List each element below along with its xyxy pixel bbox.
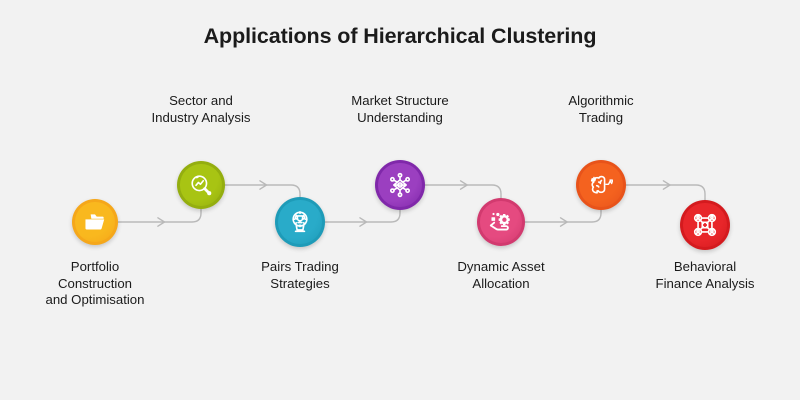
people-network-icon	[692, 212, 718, 238]
node-bubble-dynamic-asset-allocation[interactable]	[477, 198, 525, 246]
node-bubble-behavioral-finance-analysis[interactable]	[680, 200, 730, 250]
trophy-gear-icon	[287, 209, 313, 235]
node-bubble-pairs-trading-strategies[interactable]	[275, 197, 325, 247]
node-bubble-market-structure-understanding[interactable]	[375, 160, 425, 210]
brain-algorithm-icon	[588, 172, 614, 198]
node-bubble-sector-industry-analysis[interactable]	[177, 161, 225, 209]
node-icon-disc-dynamic-asset-allocation	[480, 201, 522, 243]
node-label-algorithmic-trading: Algorithmic Trading	[506, 93, 696, 126]
diagram-canvas: Applications of Hierarchical Clustering …	[0, 0, 800, 400]
node-icon-disc-sector-industry-analysis	[180, 164, 222, 206]
node-icon-disc-market-structure-understanding	[378, 163, 422, 207]
connector-dynamic-asset-allocation-to-algorithmic-trading	[525, 210, 601, 222]
node-icon-disc-pairs-trading-strategies	[278, 200, 322, 244]
node-icon-disc-portfolio-construction	[75, 202, 115, 242]
node-icon-disc-algorithmic-trading	[579, 163, 623, 207]
folder-icon	[82, 209, 108, 235]
node-label-dynamic-asset-allocation: Dynamic Asset Allocation	[406, 259, 596, 292]
node-bubble-algorithmic-trading[interactable]	[576, 160, 626, 210]
node-label-behavioral-finance-analysis: Behavioral Finance Analysis	[610, 259, 800, 292]
network-graph-icon	[387, 172, 413, 198]
node-bubble-portfolio-construction[interactable]	[72, 199, 118, 245]
connector-portfolio-construction-to-sector-industry-analysis	[118, 209, 201, 222]
magnifier-chart-icon	[188, 172, 214, 198]
node-icon-disc-behavioral-finance-analysis	[683, 203, 727, 247]
node-label-sector-industry-analysis: Sector and Industry Analysis	[106, 93, 296, 126]
node-label-portfolio-construction: Portfolio Construction and Optimisation	[0, 259, 190, 309]
node-label-pairs-trading-strategies: Pairs Trading Strategies	[205, 259, 395, 292]
hand-gear-icon	[488, 209, 514, 235]
node-label-market-structure-understanding: Market Structure Understanding	[300, 93, 500, 126]
